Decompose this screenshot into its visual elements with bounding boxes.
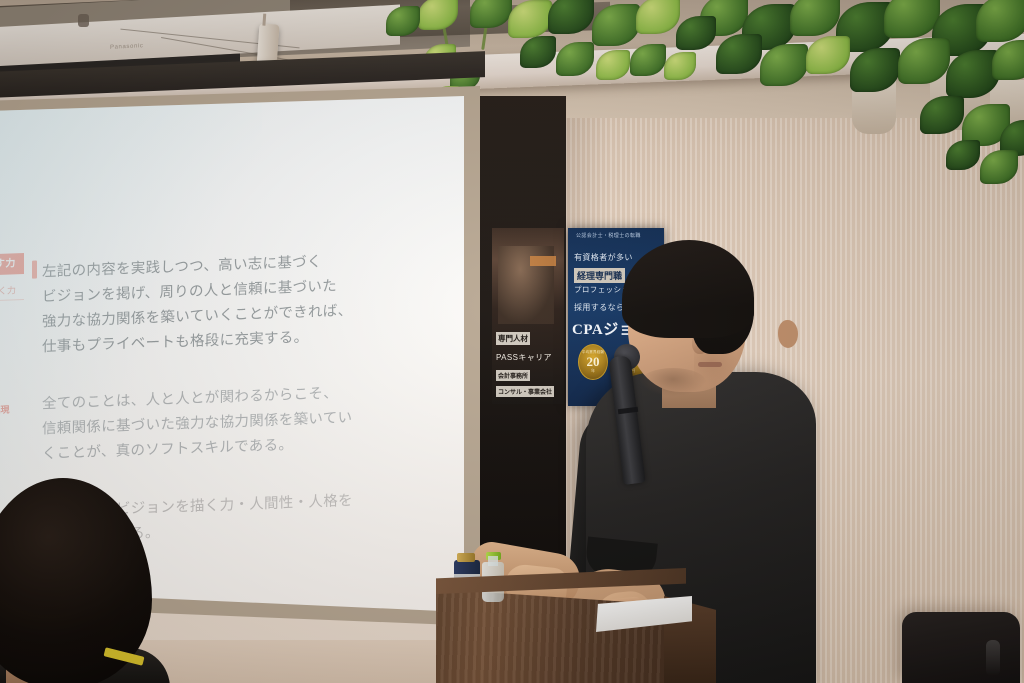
slide-paragraph-2: 全てのことは、人と人とが関わるからこそ、 信頼関係に基づいた強力な協力関係を築い… — [42, 381, 352, 467]
poster-pass-career: 専門人材 PASSキャリア 会計事務所 コンサル・事業会社 — [492, 228, 564, 404]
matrix-cell-5: ビジョンを 実現する力 — [0, 404, 10, 433]
slide-paragraph-1: 左記の内容を実践しつつ、高い志に基づく ビジョンを掲げ、周りの人と信頼に基づいた… — [42, 249, 352, 360]
chair-highlight — [986, 640, 1000, 676]
bottle-cap-icon — [457, 553, 475, 562]
chin-shading — [640, 368, 706, 396]
ear — [778, 320, 798, 348]
slide-title: まとめ — [0, 205, 14, 230]
chair — [902, 612, 1020, 683]
poster-photo-brand: PASSキャリア — [496, 352, 552, 363]
slide-matrix-diagram: 人と活かして成果を出す力 聞く力 ビジョンを描く力 共感する力 伝える力 志 ビ… — [0, 253, 32, 489]
poster-photo-sub1: 会計事務所 — [496, 370, 530, 381]
matrix-header: 人と活かして成果を出す力 — [0, 253, 24, 279]
poster-top-caption: 公認会計士・税理士の転職 — [576, 232, 641, 239]
poster-photo-band — [530, 256, 556, 266]
mouth — [698, 362, 722, 367]
poster-photo-highlight: 専門人材 — [496, 332, 530, 345]
presentation-photo-scene: Panasonic — [0, 0, 1024, 683]
poster-photo-sub2: コンサル・事業会社 — [496, 386, 554, 397]
ceiling-mount-icon — [78, 14, 89, 27]
speaker-hair — [622, 240, 754, 338]
matrix-cell-1: ビジョンを描く力 — [0, 283, 16, 299]
